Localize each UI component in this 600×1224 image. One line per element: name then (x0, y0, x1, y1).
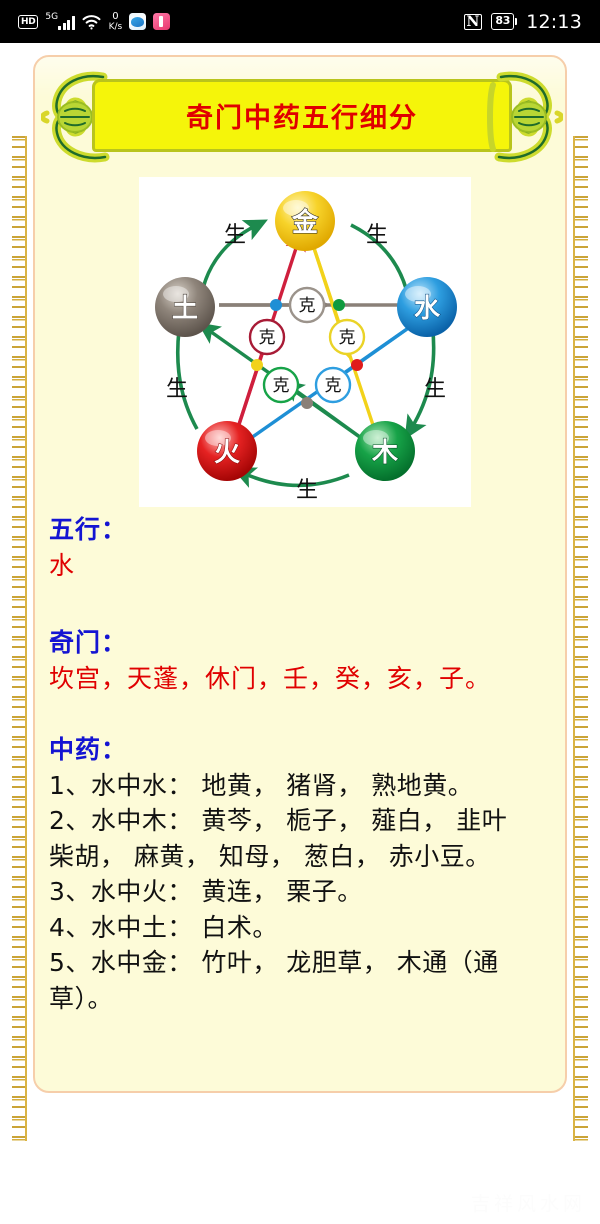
ke-label-water-fire: 克 (325, 376, 342, 396)
signal-strength-bars (58, 15, 75, 30)
ke-label-fire-metal: 克 (259, 328, 276, 348)
spacer-2 (49, 696, 559, 732)
status-bar-left-group: HD 5G 0 K/s (18, 12, 170, 32)
notes-app-icon (153, 13, 170, 30)
browser-app-icon (129, 13, 146, 30)
zhongyao-line: 3、水中火： 黄连， 栗子。 (49, 874, 559, 910)
right-border-ornament (573, 136, 588, 1141)
svg-text:水: 水 (414, 294, 441, 324)
svg-text:木: 木 (371, 438, 398, 468)
battery-icon: 83 (491, 13, 517, 29)
site-watermark: 吉祥风水网 (471, 1189, 586, 1216)
zhongyao-line: 4、水中土： 白术。 (49, 910, 559, 946)
zhongyao-line: 柴胡， 麻黄， 知母， 葱白， 赤小豆。 (49, 839, 559, 875)
qimen-value: 坎宫，天蓬，休门，壬，癸，亥，子。 (49, 661, 559, 697)
battery-cap (515, 18, 517, 25)
sheng-label-wood-fire: 生 (296, 478, 318, 503)
sheng-label-fire-earth: 生 (166, 377, 188, 402)
ke-label-metal-wood: 克 (339, 328, 356, 348)
ke-label-earth-water: 克 (299, 296, 316, 316)
signal-bars-icon: 5G (45, 13, 74, 30)
hd-icon: HD (18, 15, 38, 29)
sheng-label-water-wood: 生 (424, 377, 446, 402)
svg-text:火: 火 (214, 438, 240, 468)
page-content: 奇门中药五行细分 (0, 43, 600, 1224)
data-rate-value: 0 (112, 12, 118, 22)
network-type-label: 5G (45, 13, 58, 22)
clock-label: 12:13 (526, 11, 582, 33)
status-bar: HD 5G 0 K/s N 83 12:13 (0, 0, 600, 43)
battery-percent-label: 83 (491, 13, 514, 29)
content-card: 奇门中药五行细分 (33, 55, 567, 1093)
wuxing-heading: 五行： (49, 512, 559, 548)
zhongyao-line: 草）。 (49, 981, 559, 1017)
zhongyao-line: 1、水中水： 地黄， 猪肾， 熟地黄。 (49, 768, 559, 804)
sheng-label-metal-water: 生 (366, 223, 388, 248)
title-plate: 奇门中药五行细分 (92, 79, 512, 152)
wuxing-value: 水 (49, 548, 559, 584)
zhongyao-heading: 中药： (49, 732, 559, 768)
left-border-ornament (12, 136, 27, 1141)
wuxing-diagram: 克 克 克 克 克 金 (139, 177, 471, 507)
data-rate-indicator: 0 K/s (109, 12, 123, 32)
spacer-1 (49, 583, 559, 625)
zhongyao-line: 5、水中金： 竹叶， 龙胆草， 木通（通 (49, 945, 559, 981)
data-rate-unit: K/s (109, 23, 123, 32)
svg-text:金: 金 (291, 207, 319, 238)
nfc-icon: N (464, 14, 483, 30)
qimen-heading: 奇门： (49, 625, 559, 661)
svg-text:土: 土 (172, 294, 198, 324)
ke-label-wood-earth: 克 (273, 376, 290, 396)
sheng-label-earth-metal: 生 (224, 223, 246, 248)
article-body: 五行： 水 奇门： 坎宫，天蓬，休门，壬，癸，亥，子。 中药： 1、水中水： 地… (49, 512, 559, 1016)
chinese-scroll-ornament-right (485, 67, 563, 167)
status-bar-right-group: N 83 12:13 (464, 11, 582, 33)
wifi-icon (82, 14, 101, 30)
page-title: 奇门中药五行细分 (186, 96, 418, 135)
zhongyao-line: 2、水中木： 黄芩， 栀子， 薤白， 韭叶 (49, 803, 559, 839)
title-banner: 奇门中药五行细分 (35, 67, 569, 167)
